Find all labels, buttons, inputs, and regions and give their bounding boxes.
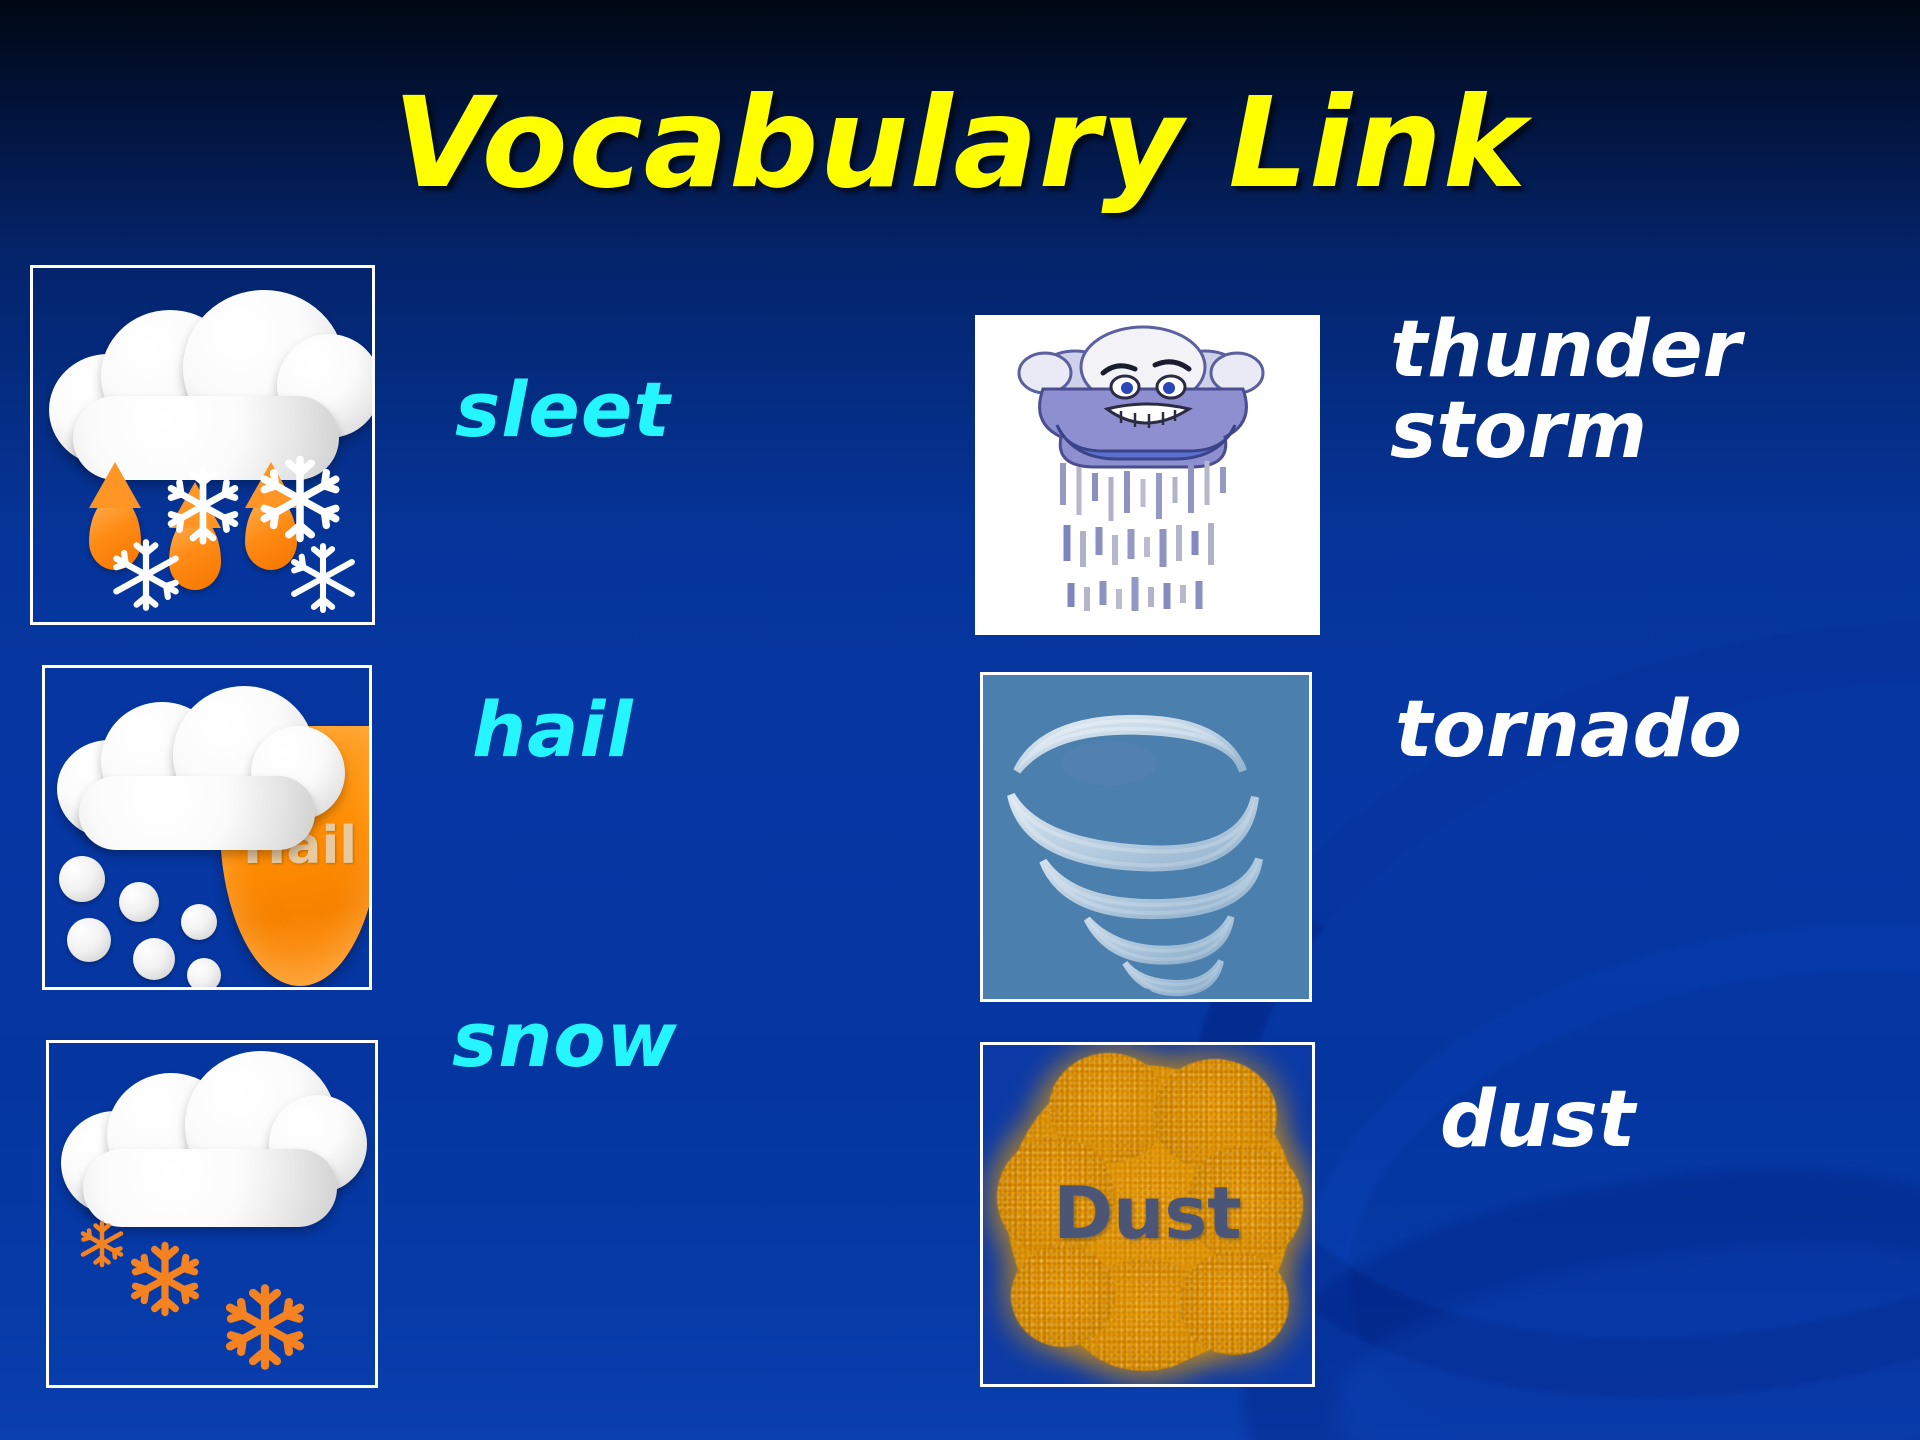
cloud-with-hail-shield-icon: Hail xyxy=(45,668,369,987)
dust-badge-text: Dust xyxy=(983,1171,1312,1255)
tornado-funnel-icon xyxy=(983,675,1312,1002)
snowflake-icon xyxy=(107,536,185,614)
label-hail: hail xyxy=(472,690,634,769)
label-sleet: sleet xyxy=(455,370,671,449)
label-dust: dust xyxy=(1440,1080,1635,1161)
image-frame-dust: Dust xyxy=(980,1042,1315,1387)
image-frame-thunderstorm xyxy=(975,315,1320,635)
background-wave-dark xyxy=(1217,1118,1920,1440)
cloud-with-snowflakes-icon xyxy=(49,1043,375,1385)
angry-storm-cloud-icon xyxy=(975,315,1320,635)
page-title: Vocabulary Link xyxy=(0,78,1920,209)
dust-blob-lobe-bottomright xyxy=(1179,1251,1289,1355)
image-frame-hail: Hail xyxy=(42,665,372,990)
image-frame-snow xyxy=(46,1040,378,1388)
label-thunderstorm-line1: thunder xyxy=(1390,310,1741,391)
snowflake-icon xyxy=(219,1281,311,1373)
snowflake-icon xyxy=(125,1239,205,1319)
label-thunderstorm: thunder storm xyxy=(1390,310,1741,472)
slide-canvas: Vocabulary Link xyxy=(0,0,1920,1440)
cloud-with-sleet-icon xyxy=(33,268,372,622)
label-snow: snow xyxy=(452,1000,678,1079)
snowflake-icon xyxy=(77,1219,127,1269)
image-frame-tornado xyxy=(980,672,1312,1002)
label-tornado: tornado xyxy=(1395,690,1742,771)
image-frame-sleet xyxy=(30,265,375,625)
snowflake-icon xyxy=(253,452,347,546)
snowflake-icon xyxy=(285,540,361,616)
dust-cloud-icon: Dust xyxy=(983,1045,1312,1384)
label-thunderstorm-line2: storm xyxy=(1390,391,1741,472)
dust-blob-lobe-bottomleft xyxy=(1011,1245,1115,1347)
background-wave-light xyxy=(1319,1219,1920,1440)
